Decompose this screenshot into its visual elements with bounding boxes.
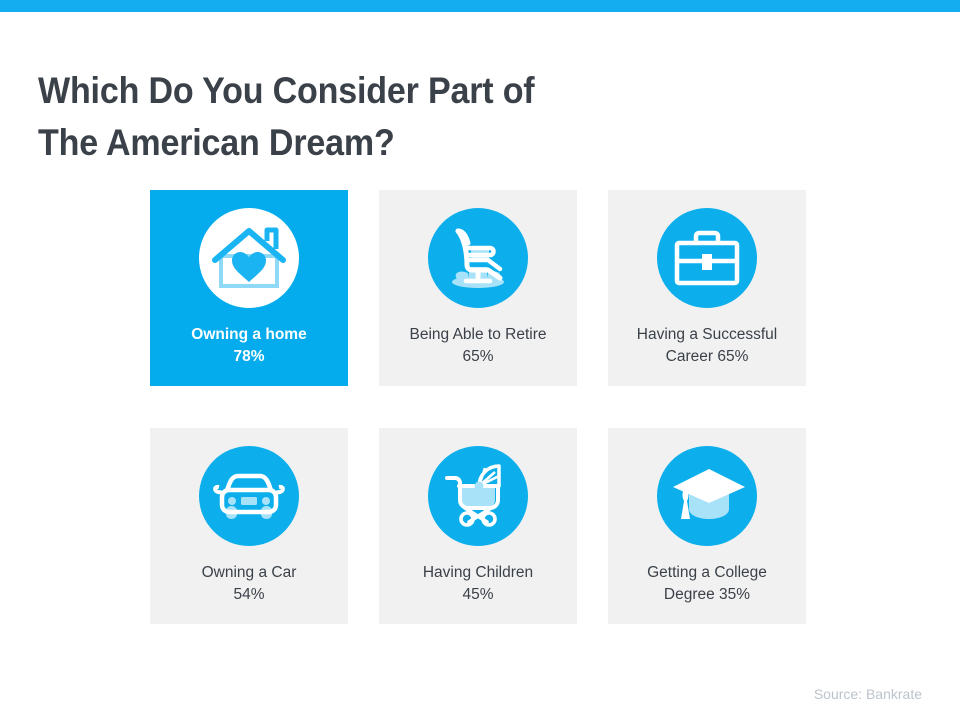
icon-badge: [199, 208, 299, 308]
stat-card-caption: Getting a College Degree 35%: [614, 562, 800, 606]
briefcase-icon: [672, 229, 742, 287]
house-heart-icon: [212, 225, 286, 291]
stat-card-caption: Owning a Car 54%: [156, 562, 342, 606]
stat-card-having-a-successful-career[interactable]: Having a Successful Career 65%: [608, 190, 806, 386]
stat-card-caption: Having a Successful Career 65%: [614, 324, 800, 368]
icon-badge: [428, 208, 528, 308]
page-title: Which Do You Consider Part of The Americ…: [38, 65, 756, 169]
stat-card-owning-a-home[interactable]: Owning a home 78%: [150, 190, 348, 386]
stat-card-owning-a-car[interactable]: Owning a Car 54%: [150, 428, 348, 624]
icon-badge: [657, 446, 757, 546]
stat-card-caption: Being Able to Retire 65%: [385, 324, 571, 368]
car-icon: [212, 468, 286, 524]
stroller-icon: [443, 464, 513, 528]
icon-badge: [199, 446, 299, 546]
source-note: Source: Bankrate: [814, 686, 922, 702]
icon-badge: [428, 446, 528, 546]
top-accent-bar: [0, 0, 960, 12]
stat-card-caption: Owning a home 78%: [156, 324, 342, 368]
icon-badge: [657, 208, 757, 308]
stat-card-getting-a-college-degree[interactable]: Getting a College Degree 35%: [608, 428, 806, 624]
statistic-card-grid: Owning a home 78% Being: [150, 190, 806, 624]
stat-card-being-able-to-retire[interactable]: Being Able to Retire 65%: [379, 190, 577, 386]
stat-card-caption: Having Children 45%: [385, 562, 571, 606]
rocking-chair-icon: [444, 224, 512, 292]
graduation-cap-icon: [668, 465, 746, 527]
stat-card-having-children[interactable]: Having Children 45%: [379, 428, 577, 624]
